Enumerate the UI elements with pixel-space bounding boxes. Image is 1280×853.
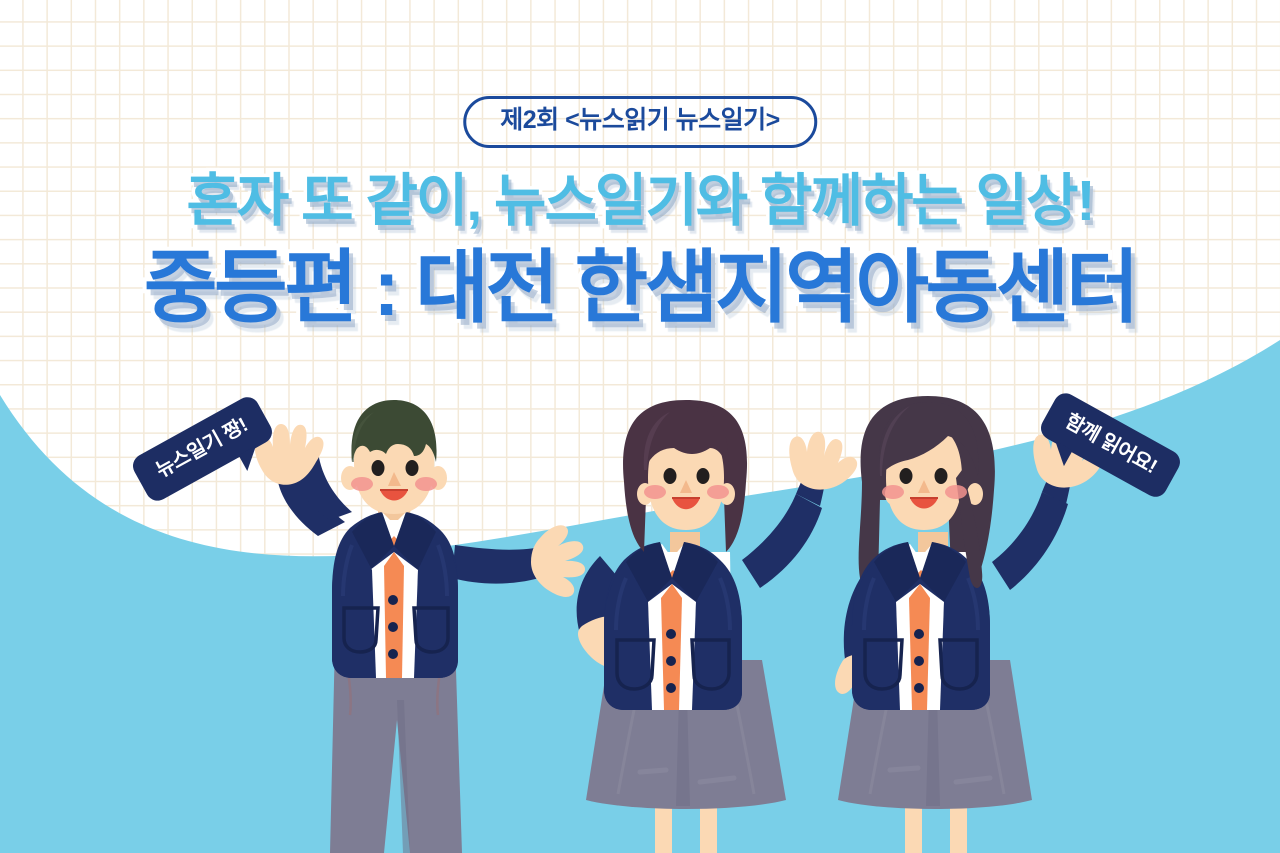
- character-boy-left: [255, 400, 585, 853]
- character-girl-center: [577, 400, 858, 853]
- poster-canvas: 제2회 <뉴스읽기 뉴스일기> 혼자 또 같이, 뉴스일기와 함께하는 일상! …: [0, 0, 1280, 853]
- hand-girl-center-right: [789, 432, 857, 490]
- hand-boy-right: [531, 525, 585, 597]
- event-badge: 제2회 <뉴스읽기 뉴스일기>: [463, 96, 817, 148]
